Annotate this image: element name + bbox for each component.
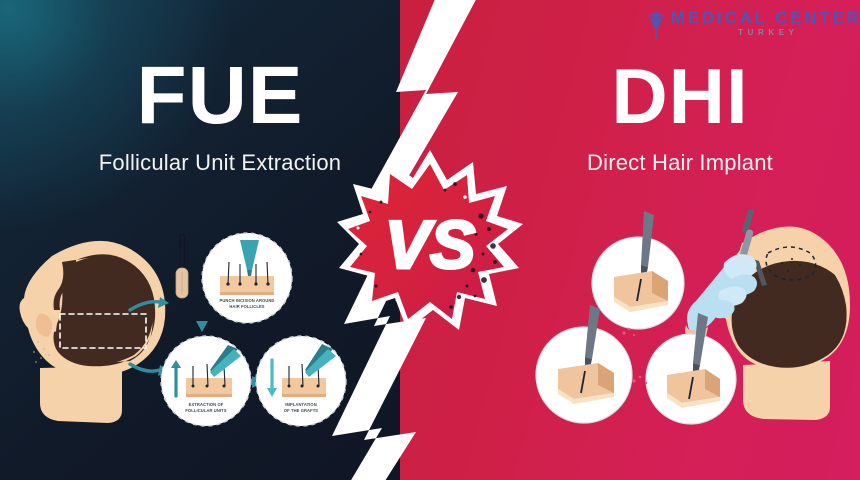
fue-connector-arrow-down <box>196 321 208 332</box>
comparison-infographic: MEDICAL CENTER TURKEY FUE Follicular Uni… <box>0 0 860 480</box>
fue-step-punch-label-line1: PUNCH INCISION AROUND <box>220 298 275 303</box>
brand-logo[interactable]: MEDICAL CENTER TURKEY <box>646 9 846 45</box>
fue-step-extraction-callout: EXTRACTION OF FOLLICULAR UNITS <box>161 336 251 426</box>
fue-head-illustration <box>20 241 166 423</box>
vs-label: VS <box>385 207 476 283</box>
logo-words: MEDICAL CENTER TURKEY <box>671 9 860 39</box>
dhi-title-block: DHI Direct Hair Implant <box>505 52 855 176</box>
logo-wordmark: MEDICAL CENTER <box>671 9 860 27</box>
fue-step-extraction-label-line1: EXTRACTION OF <box>189 402 224 407</box>
caduceus-icon <box>646 10 666 40</box>
dhi-acronym: DHI <box>505 52 855 140</box>
fue-procedure-illustration: PUNCH INCISION AROUND HAIR FOLLICLES <box>0 218 360 433</box>
dhi-step-top-callout <box>592 211 684 329</box>
dhi-expansion: Direct Hair Implant <box>505 150 855 176</box>
fue-step-implantation-callout: IMPLANTATION OF THE GRAFTS <box>256 336 346 426</box>
fue-acronym: FUE <box>45 52 395 140</box>
dhi-procedure-illustration <box>528 205 860 445</box>
punch-tool-icon <box>176 234 188 298</box>
fue-step-punch-label-line2: HAIR FOLLICLES <box>229 304 264 309</box>
fue-step-implantation-label-line2: OF THE GRAFTS <box>284 408 318 413</box>
fue-step-implantation-label-line1: IMPLANTATION <box>285 402 317 407</box>
vs-badge: VS <box>337 150 523 330</box>
logo-subword: TURKEY <box>738 27 799 39</box>
fue-step-punch-callout: PUNCH INCISION AROUND HAIR FOLLICLES <box>202 233 292 323</box>
fue-step-extraction-label-line2: FOLLICULAR UNITS <box>185 408 226 413</box>
